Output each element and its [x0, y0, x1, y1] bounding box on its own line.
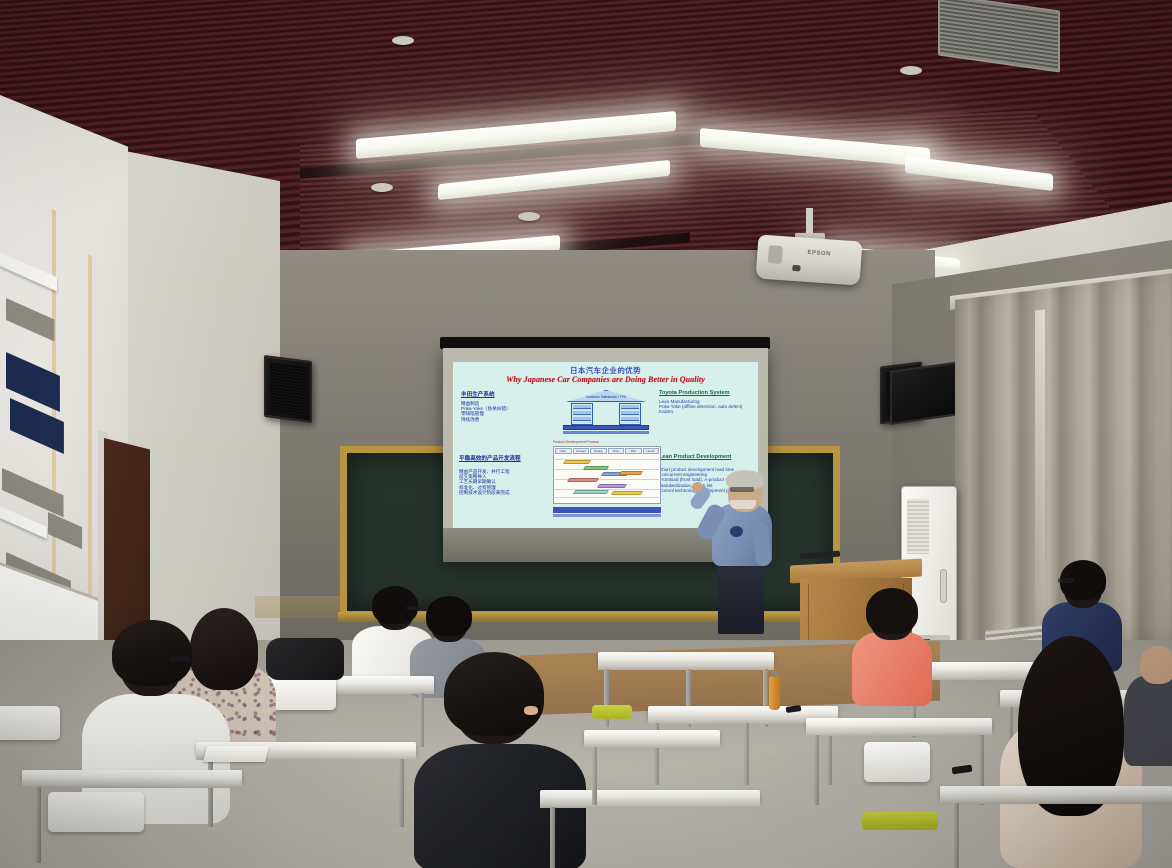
slide-heading: 平稳高效的产品开发流程	[459, 454, 521, 462]
slide-left-column-1: 丰田生产系统 精益制造 Poka-Yoke（防呆纠错） 零缺陷管理 持续改善	[461, 390, 511, 422]
desk-leg	[36, 787, 41, 863]
presenter-glasses	[730, 487, 754, 492]
wall-monitor	[890, 361, 960, 425]
chair-seat[interactable]	[862, 812, 938, 830]
gantt-footer-shadow	[553, 514, 661, 517]
ac-grill	[907, 499, 929, 554]
gantt-bar	[573, 490, 609, 494]
left-wall-speaker	[264, 355, 312, 423]
gantt-bar	[611, 491, 643, 495]
attendee-top	[1124, 676, 1172, 766]
open-notebook	[203, 746, 269, 762]
slide-heading: Lean Product Development	[659, 454, 744, 460]
slide-heading: Toyota Production System	[659, 390, 742, 396]
attendee-ear	[524, 706, 538, 715]
slide-title-english: Why Japanese Car Companies are Doing Bet…	[453, 375, 758, 384]
ceiling-smoke-detector	[518, 212, 540, 221]
attendee-hair	[426, 596, 472, 636]
attendee-coral-top	[846, 588, 942, 706]
presenter-shirt-logo	[730, 526, 743, 537]
desk-leg	[399, 759, 404, 827]
tps-house-pillar-right	[619, 403, 641, 425]
presenter-hand	[692, 482, 703, 492]
slide-right-column-1: Toyota Production System Lean Manufactur…	[659, 390, 742, 415]
tps-house-pillar-left	[571, 403, 593, 425]
projector-lens	[768, 245, 783, 264]
desk-edge	[940, 798, 1172, 804]
gantt-col-header: Concept	[573, 448, 590, 454]
attendee-top	[852, 632, 932, 706]
ceiling-smoke-detector	[392, 36, 414, 45]
desk-leg	[592, 747, 597, 805]
desk-leg	[419, 693, 424, 747]
desk-leg	[744, 723, 749, 785]
desk-edge	[22, 782, 242, 788]
gantt-chart-title: Product Development Process	[553, 440, 599, 444]
gantt-col-header: Pilot	[625, 448, 642, 454]
desk-leg	[550, 807, 555, 868]
presenter	[700, 470, 790, 630]
black-backpack	[266, 638, 344, 680]
gantt-col-header: Proto	[608, 448, 625, 454]
slide-bullet: 持续改善	[461, 417, 511, 422]
chair-seat[interactable]	[592, 705, 632, 719]
desk-edge	[806, 730, 992, 736]
attendee-head	[1140, 646, 1172, 684]
desk-edge	[584, 742, 720, 748]
presenter-trousers	[718, 558, 764, 634]
gantt-bar	[583, 466, 609, 470]
gantt-bar	[567, 478, 599, 482]
attendee-hair	[866, 588, 918, 634]
slide-bullet: Kaizen	[659, 409, 742, 414]
tps-house-diagram: Customer Satisfaction / TPS	[563, 390, 649, 434]
slide-left-column-2: 平稳高效的产品开发流程 精益产品开发、并行工程 前久策略导入 工艺长期早期确认 …	[459, 454, 521, 496]
water-bottle	[769, 676, 780, 710]
slide-heading: 丰田生产系统	[461, 390, 511, 398]
slide-bullet: 控制技术设计阶段来完成	[459, 490, 521, 495]
gantt-bar	[597, 484, 627, 488]
gantt-chart: Plan Concept Design Proto Pilot Launch	[553, 446, 661, 504]
desk-leg	[814, 735, 819, 805]
attendee-black-tshirt-center	[408, 652, 592, 868]
tps-house-roof-label: Customer Satisfaction / TPS	[566, 395, 646, 399]
gantt-header-row: Plan Concept Design Proto Pilot Launch	[555, 448, 659, 454]
chair-back[interactable]	[48, 792, 144, 832]
chair-back[interactable]	[0, 706, 60, 740]
attendee-dark-top-right	[1124, 646, 1172, 766]
classroom-photo: 日本汽车企业的优势 Why Japanese Car Companies are…	[0, 0, 1172, 868]
tps-house-base-shadow	[563, 431, 649, 434]
attendee-hair	[112, 620, 192, 686]
gantt-col-header: Design	[590, 448, 607, 454]
speaker-grill	[270, 362, 306, 416]
tps-house-base	[563, 425, 649, 430]
epson-projector: EPSON	[756, 234, 863, 285]
chair-back[interactable]	[864, 742, 930, 782]
gantt-col-header: Plan	[555, 448, 572, 454]
gantt-bar	[563, 460, 591, 464]
ceiling-smoke-detector	[371, 183, 393, 192]
attendee-glasses	[170, 656, 190, 662]
attendee-hair	[444, 652, 544, 736]
desk-leg	[954, 803, 959, 868]
attendee-glasses	[1058, 578, 1074, 583]
projector-brand-label: EPSON	[807, 250, 831, 258]
ceiling-smoke-detector	[900, 66, 922, 75]
presenter-collar	[730, 500, 756, 509]
projector-vent	[792, 265, 800, 272]
gantt-footer-band	[553, 507, 661, 513]
gantt-col-header: Launch	[643, 448, 660, 454]
gantt-bar	[619, 471, 643, 475]
desk-edge	[540, 802, 760, 808]
